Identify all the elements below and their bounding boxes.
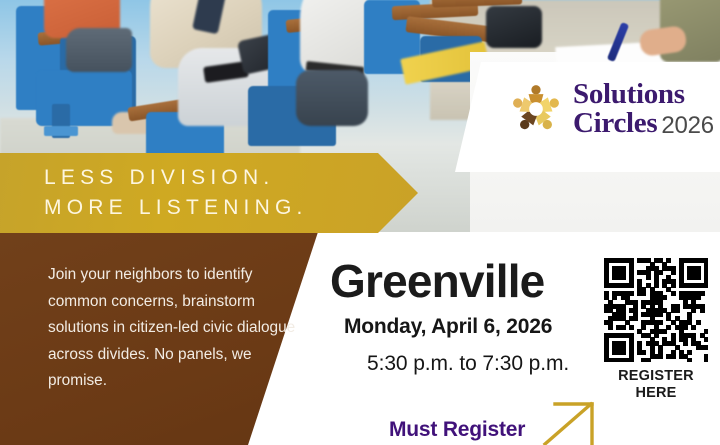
must-register-text: Must Register bbox=[389, 418, 525, 442]
register-here-label: REGISTER HERE bbox=[604, 368, 708, 402]
photo-seat-foot bbox=[44, 126, 78, 136]
arrow-up-right-icon bbox=[541, 398, 599, 445]
event-poster: Solutions Circles 2026 LESS DIVISION. MO… bbox=[0, 0, 720, 445]
photo-person-legs bbox=[296, 70, 368, 126]
solutions-circles-people-circle-icon bbox=[505, 78, 567, 140]
headline-line-1: LESS DIVISION. bbox=[44, 163, 308, 193]
brand-line-circles: Circles bbox=[573, 109, 657, 138]
photo-bag bbox=[486, 6, 542, 48]
brand-logo: Solutions Circles 2026 bbox=[505, 78, 714, 140]
event-city: Greenville bbox=[330, 258, 544, 304]
description-text: Join your neighbors to identify common c… bbox=[48, 262, 300, 395]
headline-banner: LESS DIVISION. MORE LISTENING. bbox=[0, 153, 418, 233]
headline-line-2: MORE LISTENING. bbox=[44, 193, 308, 223]
registration-qr-code[interactable] bbox=[604, 258, 708, 362]
brand-wordmark: Solutions Circles 2026 bbox=[573, 80, 714, 138]
event-date: Monday, April 6, 2026 bbox=[344, 315, 552, 339]
register-label-line-2: HERE bbox=[604, 385, 708, 402]
brand-line-solutions: Solutions bbox=[573, 80, 714, 109]
brand-year: 2026 bbox=[661, 114, 714, 138]
photo-person-legs bbox=[66, 28, 132, 72]
register-label-line-1: REGISTER bbox=[604, 368, 708, 385]
brand-line-circles-year: Circles 2026 bbox=[573, 109, 714, 138]
headline-text: LESS DIVISION. MORE LISTENING. bbox=[44, 163, 308, 223]
event-time: 5:30 p.m. to 7:30 p.m. bbox=[367, 352, 569, 376]
